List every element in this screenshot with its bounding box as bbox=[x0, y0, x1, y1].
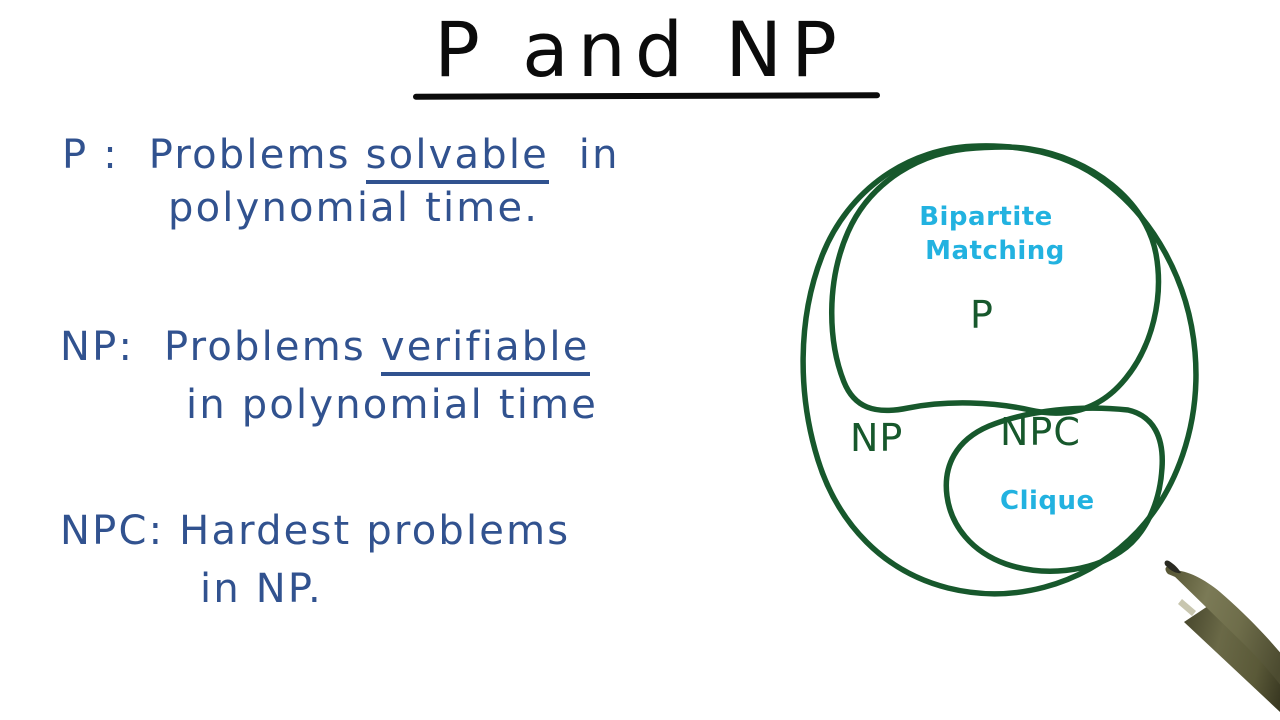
venn-label-clique: Clique bbox=[1000, 486, 1095, 516]
definition-np-keyword: verifiable bbox=[381, 324, 590, 376]
venn-diagram: Bipartite Matching P NP NPC Clique bbox=[780, 120, 1220, 620]
definition-npc-line2: in NP. bbox=[200, 564, 323, 614]
definition-p-keyword: solvable bbox=[366, 132, 549, 184]
venn-label-matching: Matching bbox=[905, 236, 1085, 266]
whiteboard-canvas: P and NP P : Problems solvable in polyno… bbox=[0, 0, 1280, 720]
venn-label-p: P bbox=[970, 295, 994, 335]
definition-np-line1: NP: Problems verifiable bbox=[60, 322, 590, 372]
definition-p-prefix: P : Problems bbox=[62, 132, 366, 178]
definition-np-prefix: NP: Problems bbox=[60, 324, 381, 370]
definition-p-line1: P : Problems solvable in bbox=[62, 130, 620, 180]
venn-label-bipartite: Bipartite bbox=[896, 202, 1076, 232]
venn-diagram-svg bbox=[780, 120, 1220, 620]
venn-label-npc: NPC bbox=[1000, 412, 1081, 452]
page-title-text: P and NP bbox=[434, 6, 846, 94]
venn-label-np: NP bbox=[850, 418, 903, 458]
definition-np-line2: in polynomial time bbox=[186, 380, 598, 430]
definition-p-line2: polynomial time. bbox=[168, 183, 539, 233]
page-title: P and NP bbox=[0, 6, 1280, 94]
definition-npc-line1: NPC: Hardest problems bbox=[60, 506, 570, 556]
definition-p-suffix: in bbox=[549, 132, 620, 178]
title-underline bbox=[413, 92, 880, 99]
